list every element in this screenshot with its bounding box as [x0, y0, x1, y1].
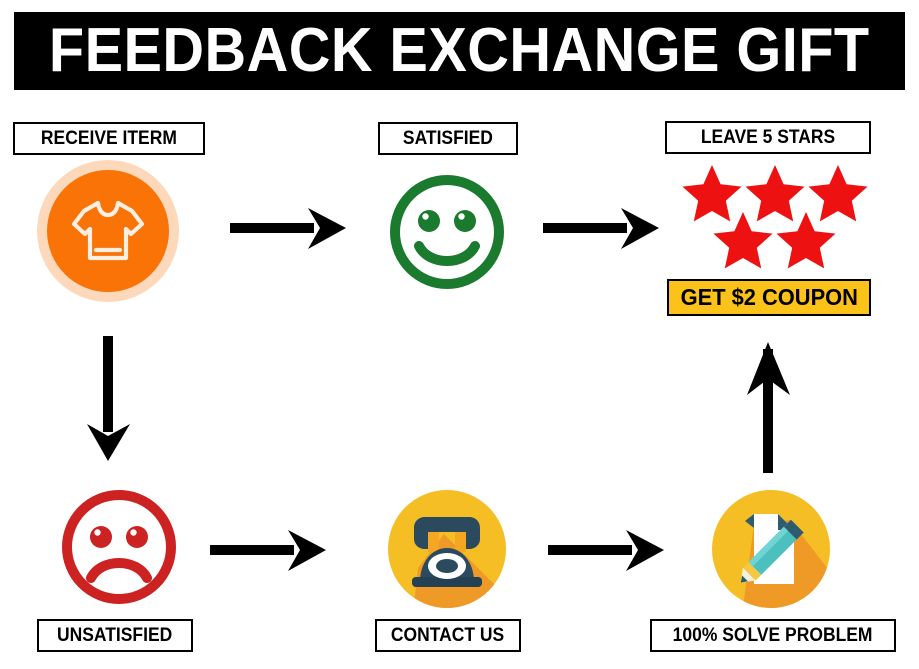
label-solve-problem: 100% SOLVE PROBLEM	[650, 619, 896, 652]
label-contact-us: CONTACT US	[375, 619, 521, 652]
label-contact-us-text: CONTACT US	[391, 626, 504, 645]
label-solve-problem-text: 100% SOLVE PROBLEM	[673, 626, 873, 645]
arrow-unsatisfied-to-contact	[210, 524, 330, 583]
title-banner: FEEDBACK EXCHANGE GIFT	[14, 12, 905, 90]
label-satisfied: SATISFIED	[378, 122, 518, 155]
arrow-right-icon	[210, 524, 330, 578]
label-leave-5-stars-text: LEAVE 5 STARS	[701, 128, 835, 147]
node-solve-problem	[712, 490, 830, 608]
arrow-receive-to-satisfied	[230, 202, 350, 261]
arrow-solve-to-coupon	[742, 337, 796, 478]
arrow-up-icon	[742, 337, 796, 473]
label-leave-5-stars: LEAVE 5 STARS	[665, 121, 871, 154]
label-satisfied-text: SATISFIED	[403, 129, 493, 148]
tshirt-icon	[71, 198, 145, 264]
label-unsatisfied-text: UNSATISFIED	[57, 626, 172, 645]
label-receive-item: RECEIVE ITERM	[13, 122, 205, 155]
arrow-receive-to-unsatisfied	[82, 336, 136, 469]
smiley-sad-icon	[57, 485, 181, 609]
five-stars-icon	[665, 163, 871, 273]
label-receive-item-text: RECEIVE ITERM	[41, 129, 177, 148]
arrow-contact-to-solve	[548, 524, 668, 583]
arrow-down-icon	[82, 336, 136, 464]
document-pencil-icon	[712, 490, 830, 608]
arrow-satisfied-to-stars	[543, 202, 663, 261]
node-contact-us	[388, 490, 506, 608]
node-receive-item	[47, 170, 169, 292]
tshirt-circle	[47, 170, 169, 292]
arrow-right-icon	[548, 524, 668, 578]
arrow-right-icon	[543, 202, 663, 256]
page-title: FEEDBACK EXCHANGE GIFT	[49, 20, 870, 82]
infographic-canvas: FEEDBACK EXCHANGE GIFT RECEIVE ITERM SAT…	[0, 0, 919, 669]
smiley-happy-icon	[385, 170, 509, 294]
arrow-right-icon	[230, 202, 350, 256]
node-unsatisfied	[57, 485, 181, 609]
node-satisfied	[385, 170, 509, 294]
coupon-badge-text: GET $2 COUPON	[680, 286, 857, 309]
telephone-icon	[388, 490, 506, 608]
label-unsatisfied: UNSATISFIED	[37, 619, 193, 652]
node-leave-5-stars	[665, 163, 871, 273]
coupon-badge[interactable]: GET $2 COUPON	[667, 279, 871, 316]
